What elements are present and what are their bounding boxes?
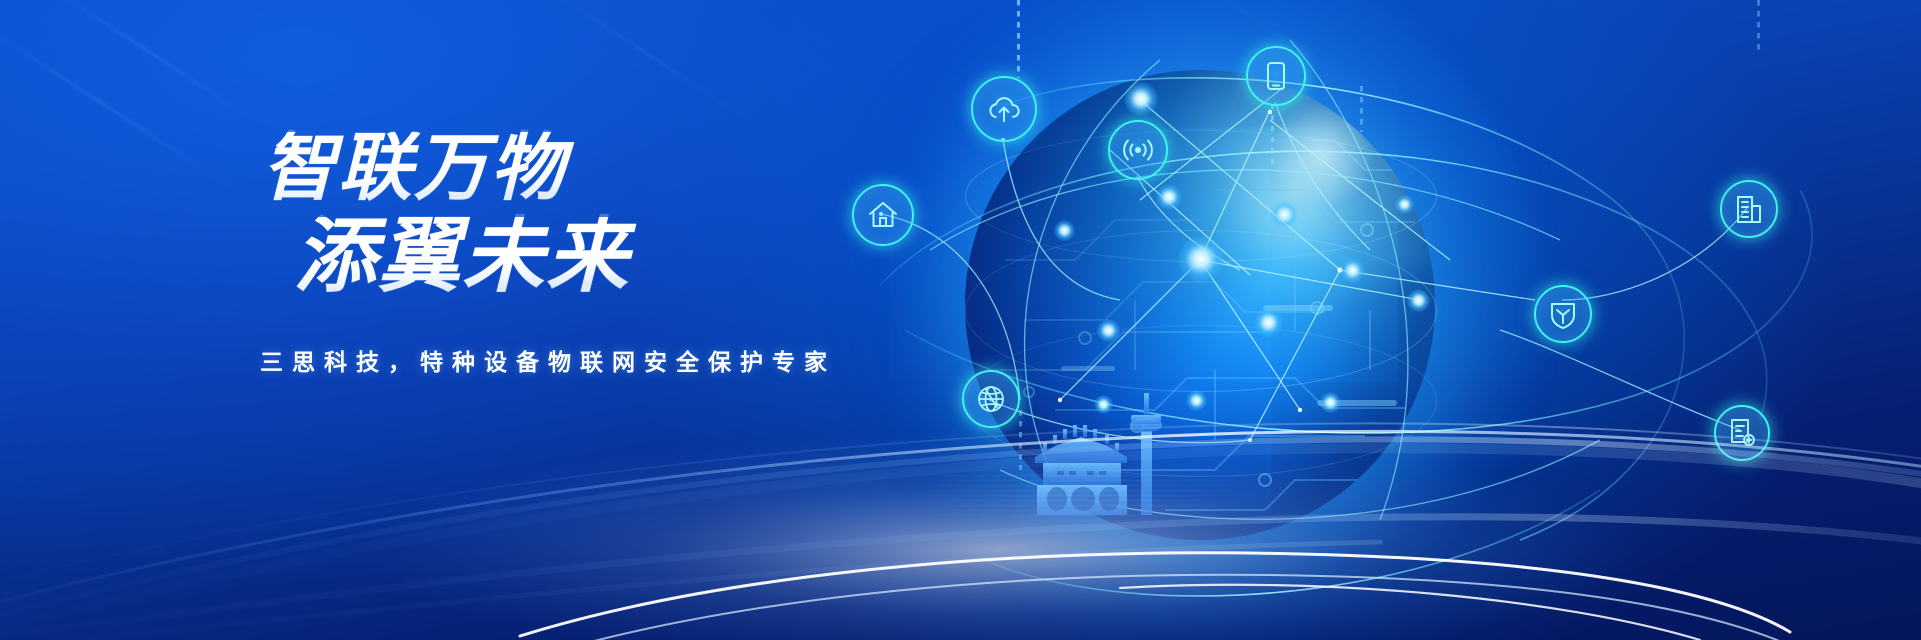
glow-dot — [1097, 319, 1120, 342]
glow-dot — [1254, 308, 1283, 337]
document-report-icon[interactable] — [1714, 405, 1770, 461]
headline-line-1: 智联万物 — [262, 132, 1006, 205]
dotted-strand — [1271, 104, 1274, 166]
glow-dot — [1054, 220, 1075, 241]
glow-dot — [1156, 184, 1182, 210]
shield-icon[interactable] — [1534, 285, 1592, 343]
dotted-strand — [1757, 0, 1760, 52]
headline-line-2: 添翼未来 — [294, 217, 1006, 297]
glow-dot — [1186, 390, 1207, 411]
hero-copy: 智联万物 添翼未来 三思科技，特种设备物联网安全保护专家 — [246, 132, 1006, 377]
dotted-strand — [1360, 86, 1363, 132]
light-streak — [519, 0, 772, 135]
hero-subtitle: 三思科技，特种设备物联网安全保护专家 — [260, 343, 1006, 377]
light-streak — [0, 10, 237, 191]
glow-dot — [1271, 201, 1298, 228]
glow-dot — [1340, 258, 1365, 283]
glow-dot — [1178, 236, 1224, 282]
water-reflection — [930, 470, 1260, 540]
hero-banner: 智联万物 添翼未来 三思科技，特种设备物联网安全保护专家 — [0, 0, 1921, 640]
wifi-signal-icon[interactable] — [1108, 120, 1168, 180]
glow-dot — [1320, 392, 1341, 413]
light-streak — [39, 0, 258, 123]
globe-network-icon[interactable] — [962, 370, 1020, 428]
mobile-phone-icon[interactable] — [1246, 46, 1306, 106]
glow-dot — [1407, 289, 1430, 312]
building-icon[interactable] — [1720, 180, 1778, 238]
glow-dot — [1395, 195, 1414, 214]
dotted-strand — [1017, 0, 1020, 78]
glow-dot — [1124, 82, 1158, 116]
